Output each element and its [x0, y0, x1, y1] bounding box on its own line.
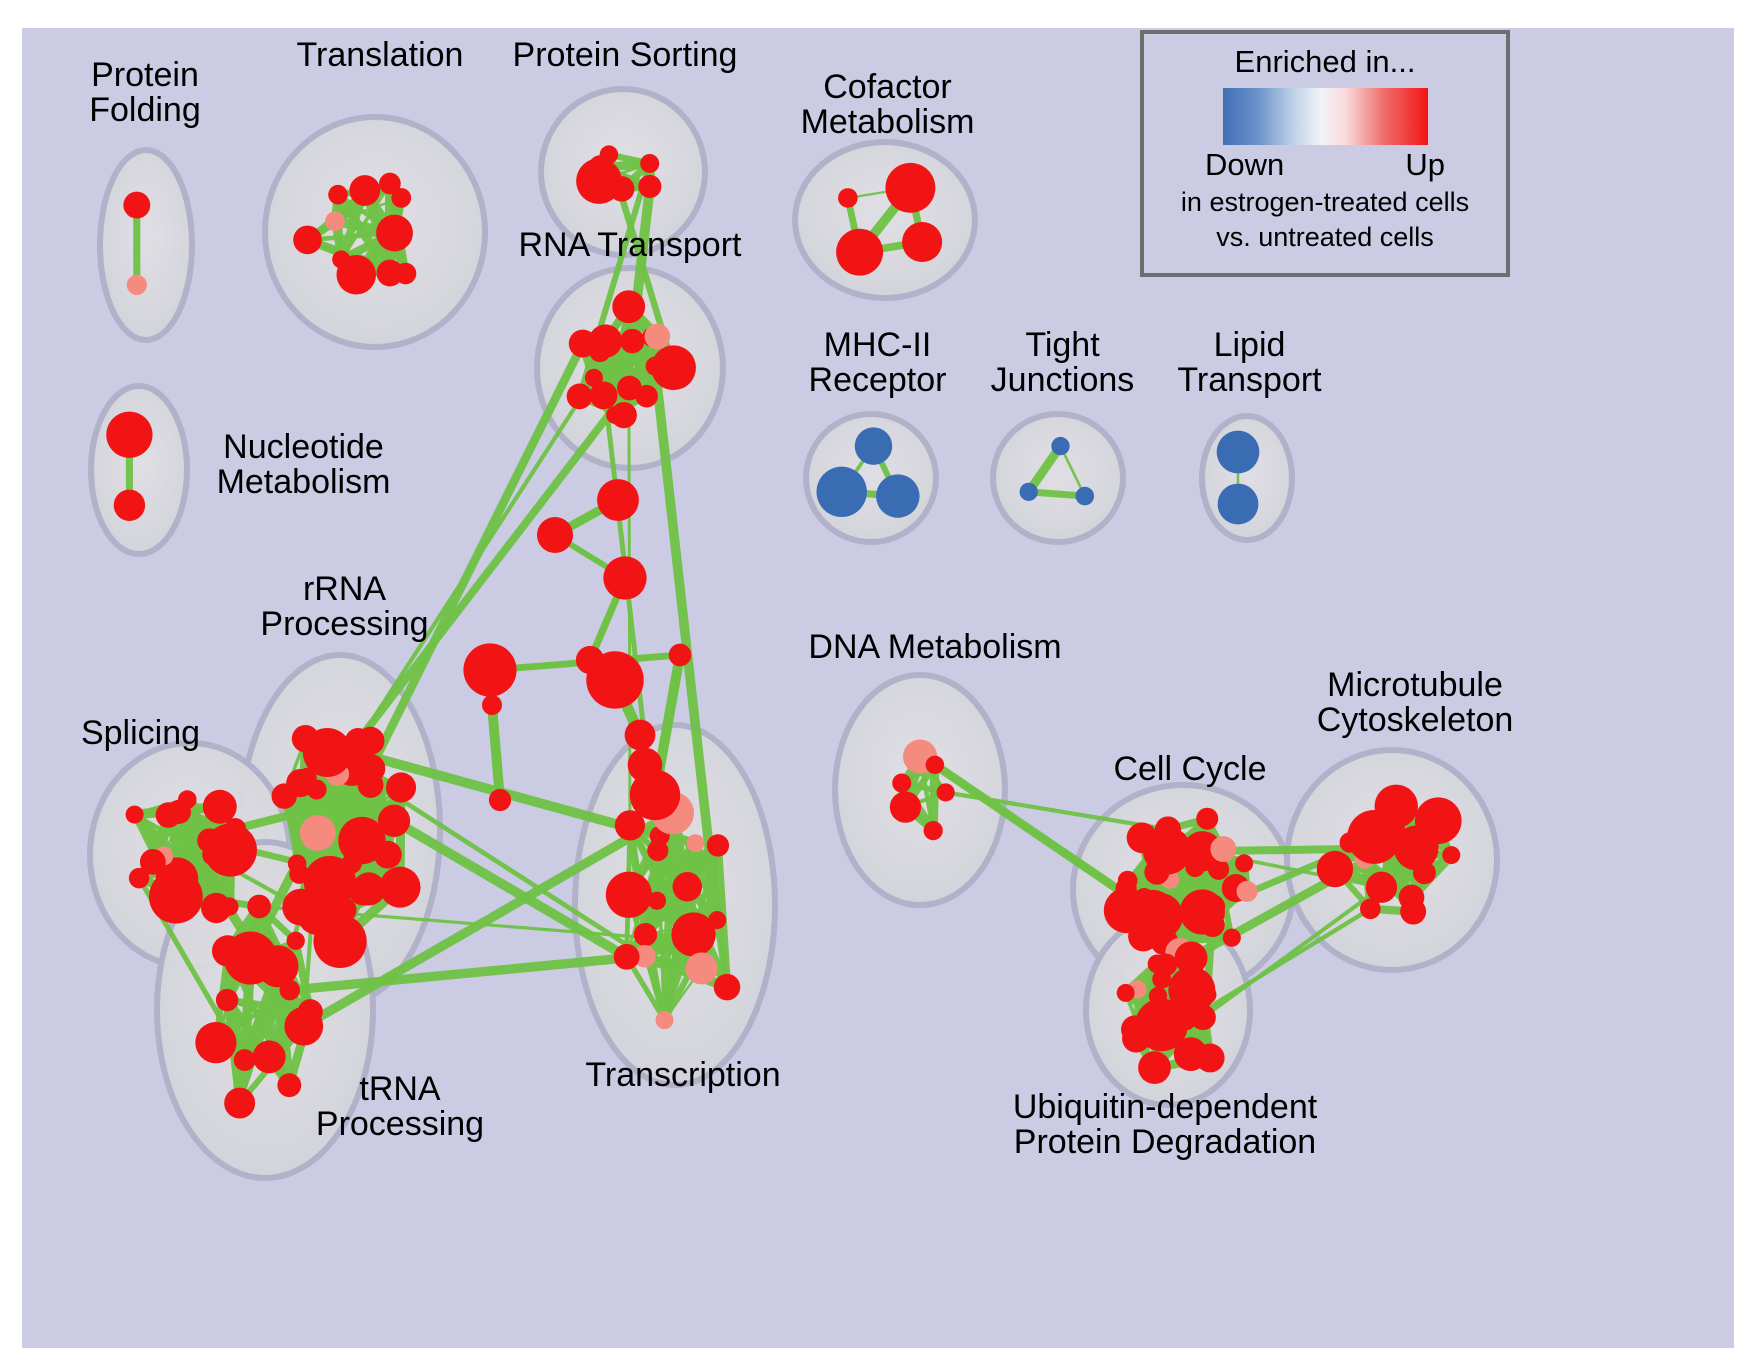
gene-set-node[interactable]	[1210, 836, 1236, 862]
gene-set-node[interactable]	[247, 895, 271, 919]
cluster-label-transcription: Transcription	[568, 1058, 798, 1093]
gene-set-node[interactable]	[336, 255, 376, 295]
gene-set-node[interactable]	[489, 789, 511, 811]
gene-set-node[interactable]	[300, 815, 336, 851]
gene-set-node[interactable]	[817, 467, 867, 517]
gene-set-node[interactable]	[356, 754, 385, 783]
legend-high-label: Up	[1405, 147, 1445, 183]
gene-set-node[interactable]	[597, 479, 639, 521]
gene-set-node[interactable]	[378, 805, 410, 837]
gene-set-node[interactable]	[635, 385, 658, 408]
gene-set-node[interactable]	[614, 944, 640, 970]
gene-set-node[interactable]	[279, 980, 299, 1000]
gene-set-node[interactable]	[625, 720, 656, 751]
gene-set-node[interactable]	[1051, 437, 1069, 455]
gene-set-node[interactable]	[673, 872, 702, 901]
gene-set-node[interactable]	[612, 290, 645, 323]
gene-set-node[interactable]	[114, 490, 145, 521]
gene-set-node[interactable]	[1223, 929, 1241, 947]
cluster-label-cell-cycle: Cell Cycle	[1090, 752, 1290, 787]
cluster-ellipse	[100, 150, 192, 340]
gene-set-node[interactable]	[585, 369, 603, 387]
gene-set-node[interactable]	[1155, 816, 1181, 842]
gene-set-node[interactable]	[234, 1049, 256, 1071]
gene-set-node[interactable]	[156, 802, 182, 828]
gene-set-node[interactable]	[289, 864, 309, 884]
gene-set-node[interactable]	[885, 163, 935, 213]
cluster-label-protein-sorting: Protein Sorting	[490, 38, 760, 73]
cluster-label-rrna-processing: rRNA Processing	[247, 572, 442, 641]
gene-set-node[interactable]	[638, 175, 661, 198]
cluster-label-trna-processing: tRNA Processing	[300, 1072, 500, 1141]
gene-set-node[interactable]	[569, 330, 597, 358]
gene-set-node[interactable]	[1138, 1051, 1171, 1084]
gene-set-node[interactable]	[325, 211, 345, 231]
gene-set-node[interactable]	[656, 1011, 674, 1029]
legend-caption-line-2: vs. untreated cells	[1144, 222, 1506, 253]
gene-set-node[interactable]	[272, 783, 297, 808]
gene-set-node[interactable]	[292, 725, 319, 752]
gene-set-node[interactable]	[645, 324, 671, 350]
cluster-label-nucleotide-metabolism: Nucleotide Metabolism	[196, 430, 411, 499]
gene-set-node[interactable]	[924, 821, 943, 840]
gene-set-node[interactable]	[603, 556, 646, 599]
cluster-label-ubiquitin-protein-degradation: Ubiquitin-dependent Protein Degradation	[985, 1090, 1345, 1159]
gene-set-node[interactable]	[379, 173, 401, 195]
gene-set-node[interactable]	[707, 834, 729, 856]
legend-caption-line-1: in estrogen-treated cells	[1144, 187, 1506, 218]
gene-set-node[interactable]	[220, 897, 238, 915]
gene-set-node[interactable]	[1020, 483, 1038, 501]
gene-set-node[interactable]	[216, 989, 238, 1011]
gene-set-node[interactable]	[212, 935, 243, 966]
gene-set-node[interactable]	[937, 783, 955, 801]
gene-set-node[interactable]	[386, 772, 416, 802]
gene-set-node[interactable]	[1148, 955, 1167, 974]
gene-set-node[interactable]	[1235, 854, 1253, 872]
gene-set-node[interactable]	[376, 215, 413, 252]
gene-set-node[interactable]	[630, 770, 680, 820]
gene-set-node[interactable]	[287, 932, 305, 950]
gene-set-node[interactable]	[640, 154, 659, 173]
gene-set-node[interactable]	[855, 427, 892, 464]
gene-set-node[interactable]	[1128, 921, 1158, 951]
gene-set-node[interactable]	[1116, 878, 1137, 899]
gene-set-node[interactable]	[620, 329, 645, 354]
cluster-label-protein-folding: Protein Folding	[70, 58, 220, 127]
gene-set-node[interactable]	[1127, 822, 1158, 853]
gene-set-node[interactable]	[600, 145, 618, 163]
gene-set-node[interactable]	[1154, 1031, 1173, 1050]
legend-low-label: Down	[1205, 147, 1284, 183]
gene-set-node[interactable]	[1149, 987, 1167, 1005]
edge	[933, 765, 935, 831]
gene-set-node[interactable]	[1122, 1025, 1150, 1053]
gene-set-node[interactable]	[1340, 832, 1361, 853]
cluster-label-lipid-transport: Lipid Transport	[1162, 328, 1337, 397]
gene-set-node[interactable]	[293, 226, 322, 255]
cluster-label-mhc-ii-receptor: MHC-II Receptor	[790, 328, 965, 397]
gene-set-node[interactable]	[177, 899, 195, 917]
gene-set-node[interactable]	[224, 818, 246, 840]
gene-set-node[interactable]	[1175, 941, 1208, 974]
gene-set-node[interactable]	[567, 383, 593, 409]
cluster-label-dna-metabolism: DNA Metabolism	[800, 630, 1070, 665]
gene-set-node[interactable]	[149, 870, 203, 924]
gene-set-node[interactable]	[1415, 797, 1462, 844]
gene-set-node[interactable]	[253, 1040, 286, 1073]
gene-set-node[interactable]	[669, 644, 692, 667]
cluster-ellipse	[993, 414, 1123, 542]
gene-set-node[interactable]	[349, 175, 380, 206]
gene-set-node[interactable]	[129, 868, 149, 888]
gene-set-node[interactable]	[123, 192, 150, 219]
gene-set-node[interactable]	[537, 517, 573, 553]
gene-set-node[interactable]	[838, 188, 858, 208]
gene-set-node[interactable]	[1198, 986, 1216, 1004]
gene-set-node[interactable]	[356, 727, 384, 755]
gene-set-node[interactable]	[611, 402, 637, 428]
gene-set-node[interactable]	[892, 773, 911, 792]
gene-set-node[interactable]	[1442, 846, 1460, 864]
gene-set-node[interactable]	[1218, 484, 1259, 525]
gene-set-node[interactable]	[1190, 1005, 1216, 1031]
gene-set-node[interactable]	[926, 756, 944, 774]
gene-set-node[interactable]	[606, 872, 652, 918]
gene-set-node[interactable]	[1217, 431, 1260, 474]
gene-set-node[interactable]	[686, 952, 718, 984]
gene-set-node[interactable]	[1375, 785, 1418, 828]
gene-set-node[interactable]	[1237, 881, 1258, 902]
gene-set-node[interactable]	[1400, 899, 1426, 925]
cluster-label-microtubule-cytoskeleton: Microtubule Cytoskeleton	[1300, 668, 1530, 737]
gene-set-node[interactable]	[651, 345, 696, 390]
gene-set-node[interactable]	[126, 806, 144, 824]
cluster-label-cofactor-metabolism: Cofactor Metabolism	[775, 70, 1000, 139]
gene-set-node[interactable]	[714, 974, 741, 1001]
gene-set-node[interactable]	[106, 412, 152, 458]
gene-set-node[interactable]	[634, 923, 657, 946]
legend-box: Enriched in... Down Up in estrogen-treat…	[1140, 30, 1510, 277]
gene-set-node[interactable]	[673, 931, 691, 949]
cluster-label-splicing: Splicing	[58, 716, 223, 751]
gene-set-node[interactable]	[876, 474, 919, 517]
cluster-label-translation: Translation	[280, 38, 480, 73]
legend-color-gradient-bar	[1223, 88, 1428, 145]
gene-set-node[interactable]	[586, 651, 643, 708]
gene-set-node[interactable]	[127, 275, 147, 295]
gene-set-node[interactable]	[195, 1022, 236, 1063]
gene-set-node[interactable]	[282, 889, 319, 926]
legend-title: Enriched in...	[1144, 44, 1506, 80]
gene-set-node[interactable]	[708, 911, 726, 929]
gene-set-node[interactable]	[482, 695, 502, 715]
gene-set-node[interactable]	[836, 229, 883, 276]
gene-set-node[interactable]	[380, 867, 421, 908]
cluster-label-rna-transport: RNA Transport	[505, 228, 755, 263]
gene-set-node[interactable]	[277, 1073, 301, 1097]
gene-set-node[interactable]	[463, 643, 516, 696]
gene-set-node[interactable]	[1196, 1043, 1225, 1072]
gene-set-node[interactable]	[178, 790, 197, 809]
gene-set-node[interactable]	[1076, 487, 1095, 506]
gene-set-node[interactable]	[686, 834, 704, 852]
gene-set-node[interactable]	[902, 222, 942, 262]
enrichment-map-figure: Protein Folding Translation Protein Sort…	[0, 0, 1750, 1360]
gene-set-node[interactable]	[1317, 851, 1353, 887]
gene-set-node[interactable]	[313, 915, 366, 968]
gene-set-node[interactable]	[1196, 808, 1218, 830]
gene-set-node[interactable]	[328, 185, 348, 205]
cluster-ellipse	[91, 386, 187, 554]
cluster-label-tight-junctions: Tight Junctions	[975, 328, 1150, 397]
gene-set-node[interactable]	[890, 791, 921, 822]
gene-set-node[interactable]	[224, 1088, 255, 1119]
gene-set-node[interactable]	[1366, 872, 1397, 903]
gene-set-node[interactable]	[1117, 984, 1135, 1002]
gene-set-node[interactable]	[1201, 913, 1225, 937]
gene-set-node[interactable]	[298, 999, 323, 1024]
gene-set-node[interactable]	[1360, 899, 1381, 920]
gene-set-node[interactable]	[374, 841, 402, 869]
gene-set-node[interactable]	[395, 263, 417, 285]
